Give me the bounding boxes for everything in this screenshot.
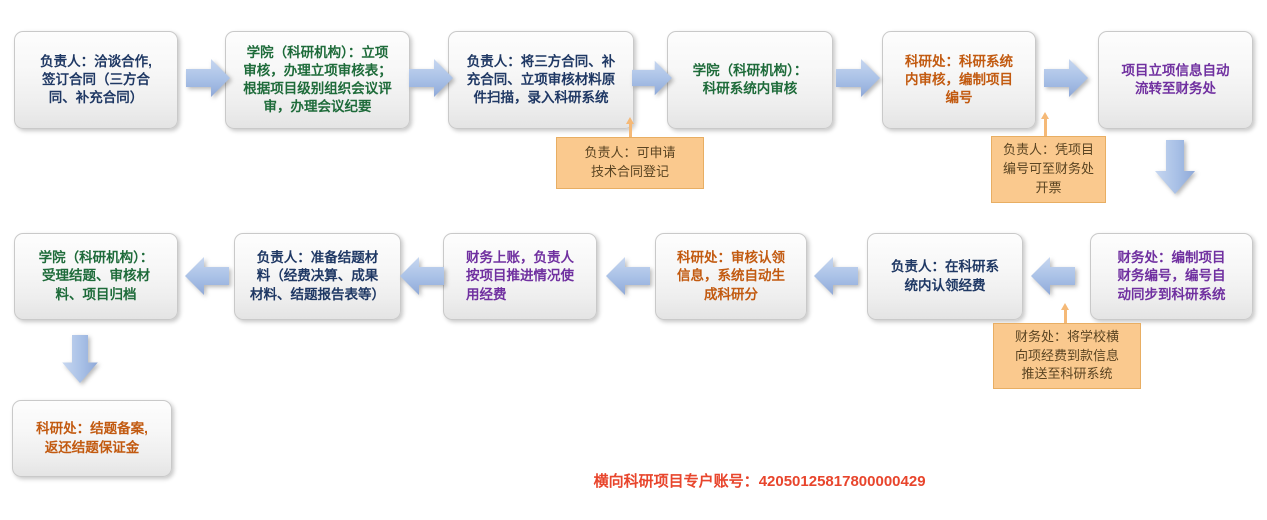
account-footer: 横向科研项目专户账号：42050125817800000429 <box>577 453 926 508</box>
process-node-11-label: 负责人：在科研系 统内认领经费 <box>891 258 999 294</box>
process-node-4-label: 学院（科研机构）： 科研系统内审核 <box>693 62 808 98</box>
process-node-10[interactable]: 科研处：审核认领 信息，系统自动生 成科研分 <box>655 233 807 320</box>
process-node-12-label: 财务处：编制项目 财务编号，编号自 动同步到科研系统 <box>1118 249 1226 304</box>
arrow-down-icon <box>1155 140 1195 194</box>
arrow-left-icon <box>185 257 229 295</box>
process-node-8-label: 负责人：准备结题材 料（经费决算、成果 材料、结题报告表等） <box>250 249 385 304</box>
arrow-left-icon <box>1031 257 1075 295</box>
process-node-5-label: 科研处：科研系统 内审核，编制项目 编号 <box>905 53 1013 108</box>
note-connector-head-1 <box>626 117 634 124</box>
account-number: 42050125817800000429 <box>759 473 926 490</box>
process-node-9-label: 财务上账，负责人 按项目推进情况使 用经费 <box>466 249 574 304</box>
process-node-7[interactable]: 学院（科研机构）： 受理结题、审核材 料、项目归档 <box>14 233 178 320</box>
process-node-10-label: 科研处：审核认领 信息，系统自动生 成科研分 <box>677 249 785 304</box>
arrow-left-icon <box>400 257 444 295</box>
arrow-right-icon <box>409 59 453 97</box>
callout-note-3[interactable]: 财务处：将学校横 向项经费到款信息 推送至科研系统 <box>993 323 1141 389</box>
callout-note-2[interactable]: 负责人：凭项目 编号可至财务处 开票 <box>991 136 1106 203</box>
arrow-right-icon <box>186 59 230 97</box>
process-node-3-label: 负责人：将三方合同、补 充合同、立项审核材料原 件扫描，录入科研系统 <box>467 53 616 108</box>
callout-note-1-label: 负责人：可申请 技术合同登记 <box>584 144 675 182</box>
process-node-13-label: 科研处：结题备案, 返还结题保证金 <box>36 420 148 456</box>
account-label: 横向科研项目专户账号： <box>594 473 759 490</box>
process-node-9[interactable]: 财务上账，负责人 按项目推进情况使 用经费 <box>443 233 597 320</box>
note-connector-head-2 <box>1041 112 1049 119</box>
arrow-right-icon <box>1044 59 1088 97</box>
process-node-6[interactable]: 项目立项信息自动 流转至财务处 <box>1098 31 1253 129</box>
note-connector-stem-2 <box>1044 119 1047 137</box>
process-node-8[interactable]: 负责人：准备结题材 料（经费决算、成果 材料、结题报告表等） <box>234 233 401 320</box>
flowchart-canvas: 负责人：洽谈合作, 签订合同（三方合 同、补充合同） 学院（科研机构）：立项 审… <box>0 0 1267 520</box>
callout-note-2-label: 负责人：凭项目 编号可至财务处 开票 <box>1003 141 1094 198</box>
note-connector-head-3 <box>1061 303 1069 310</box>
process-node-2[interactable]: 学院（科研机构）：立项 审核，办理立项审核表； 根据项目级别组织会议评 审，办理… <box>225 31 410 129</box>
process-node-3[interactable]: 负责人：将三方合同、补 充合同、立项审核材料原 件扫描，录入科研系统 <box>448 31 634 129</box>
arrow-left-icon <box>606 257 650 295</box>
process-node-4[interactable]: 学院（科研机构）： 科研系统内审核 <box>667 31 833 129</box>
process-node-13[interactable]: 科研处：结题备案, 返还结题保证金 <box>12 400 172 477</box>
arrow-left-icon <box>814 257 858 295</box>
process-node-6-label: 项目立项信息自动 流转至财务处 <box>1122 62 1230 98</box>
process-node-1[interactable]: 负责人：洽谈合作, 签订合同（三方合 同、补充合同） <box>14 31 178 129</box>
callout-note-3-label: 财务处：将学校横 向项经费到款信息 推送至科研系统 <box>1015 328 1119 385</box>
callout-note-1[interactable]: 负责人：可申请 技术合同登记 <box>556 137 704 189</box>
process-node-7-label: 学院（科研机构）： 受理结题、审核材 料、项目归档 <box>39 249 154 304</box>
process-node-1-label: 负责人：洽谈合作, 签订合同（三方合 同、补充合同） <box>40 53 152 108</box>
arrow-down-icon <box>62 335 98 383</box>
process-node-11[interactable]: 负责人：在科研系 统内认领经费 <box>867 233 1023 320</box>
process-node-2-label: 学院（科研机构）：立项 审核，办理立项审核表； 根据项目级别组织会议评 审，办理… <box>243 44 392 117</box>
arrow-right-icon <box>836 59 880 97</box>
arrow-right-icon <box>632 59 672 97</box>
process-node-12[interactable]: 财务处：编制项目 财务编号，编号自 动同步到科研系统 <box>1090 233 1253 320</box>
process-node-5[interactable]: 科研处：科研系统 内审核，编制项目 编号 <box>882 31 1036 129</box>
